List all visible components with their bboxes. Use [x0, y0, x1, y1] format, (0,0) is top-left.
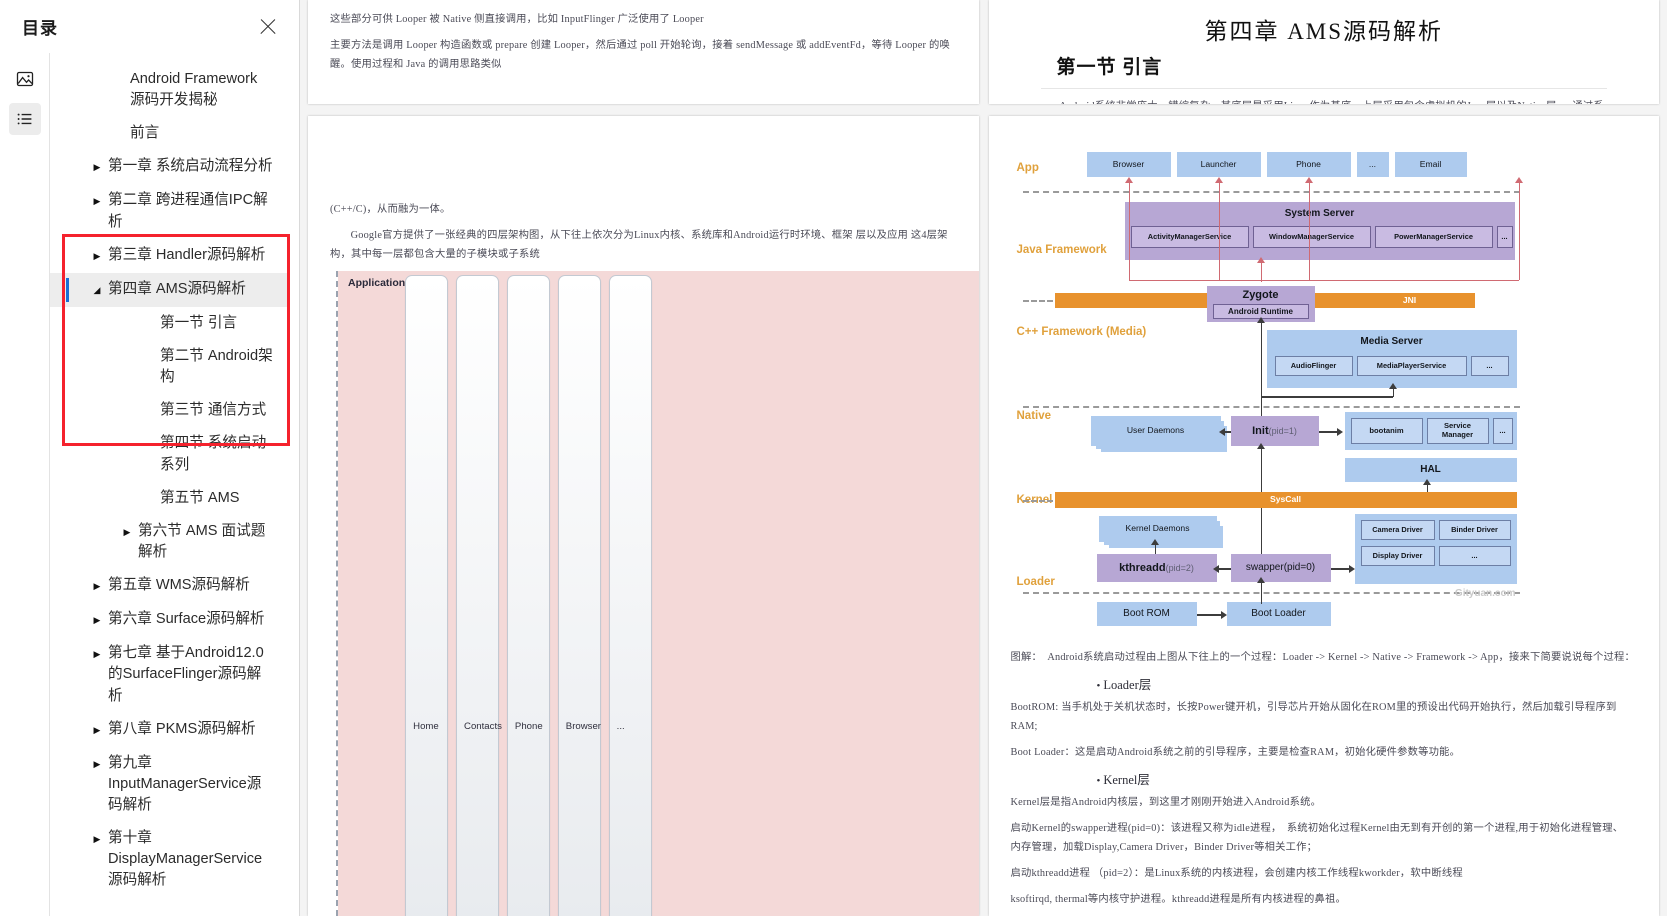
- toc-item[interactable]: 第五节 AMS: [50, 482, 289, 515]
- paragraph: ksoftirqd, thermal等内核守护进程。kthreadd进程是所有内…: [1011, 890, 1638, 909]
- toc-item[interactable]: ▶第七章 基于Android12.0的SurfaceFlinger源码解析: [50, 637, 289, 712]
- flow-app-box: Launcher: [1177, 152, 1261, 177]
- toc-item-label: 第六节 AMS 面试题解析: [138, 521, 275, 563]
- sidebar-body: Android Framework 源码开发揭秘前言▶第一章 系统启动流程分析▶…: [0, 53, 299, 916]
- sidebar-title: 目录: [22, 14, 58, 39]
- app-root: 目录: [0, 0, 1667, 916]
- thumbnails-icon[interactable]: [9, 63, 41, 95]
- caret-expanded-icon[interactable]: ◢: [86, 279, 108, 301]
- flow-arrow-right: [1319, 431, 1337, 433]
- toc-item-label: 第三章 Handler源码解析: [108, 245, 265, 266]
- flow-swapper-box: swapper(pid=0): [1231, 554, 1331, 582]
- bullet-item: Loader层: [1097, 674, 1638, 693]
- flow-user-daemons: User Daemons: [1091, 416, 1221, 446]
- flow-native-services: bootanim ServiceManager ...: [1345, 412, 1517, 450]
- toc-item[interactable]: ▶第二章 跨进程通信IPC解析: [50, 184, 289, 238]
- flow-boot-loader: Boot Loader: [1227, 602, 1331, 626]
- flow-kthreadd-box: kthreadd(pid=2): [1097, 554, 1217, 582]
- flow-service-box: ServiceManager: [1427, 418, 1489, 444]
- flow-driver-box: Binder Driver: [1439, 520, 1511, 540]
- sidebar-rail: [0, 53, 50, 916]
- paragraph: (C++/C)，从而融为一体。: [330, 200, 957, 219]
- flow-arrow-right: [1331, 568, 1349, 570]
- flow-row-label: Native: [1017, 410, 1052, 422]
- flow-kernel-drivers: Camera Driver Binder Driver Display Driv…: [1355, 514, 1517, 584]
- flow-arrow-up: [1155, 544, 1157, 554]
- flow-driver-box: ...: [1439, 546, 1511, 566]
- sidebar-header: 目录: [0, 0, 299, 53]
- toc-item-label: 第四节 系统启动系列: [160, 433, 275, 475]
- flow-red-connector: [1129, 280, 1519, 281]
- page-right-current: App Java Framework C++ Framework (Media)…: [989, 116, 1660, 916]
- toc-item-label: 第七章 基于Android12.0的SurfaceFlinger源码解析: [108, 643, 275, 706]
- page-right-body: 图解： Android系统启动过程由上图从下往上的一个过程：Loader -> …: [1011, 648, 1638, 909]
- paragraph: BootROM: 当手机处于关机状态时，长按Power键开机，引导芯片开始从固化…: [1011, 698, 1638, 736]
- toc-item-label: 第三节 通信方式: [160, 400, 266, 421]
- toc-item[interactable]: ▶第一章 系统启动流程分析: [50, 150, 289, 184]
- flow-service-box: ...: [1497, 226, 1513, 248]
- toc-item[interactable]: ▶第八章 PKMS源码解析: [50, 713, 289, 747]
- toc-item[interactable]: ▶第六章 Surface源码解析: [50, 603, 289, 637]
- arch-layer-application: Application Home Contacts Phone Browser …: [338, 271, 979, 916]
- caret-collapsed-icon[interactable]: ▶: [86, 245, 108, 267]
- flow-arrow-right: [1197, 614, 1221, 616]
- caret-collapsed-icon[interactable]: ▶: [86, 753, 108, 775]
- flow-service-box: ...: [1471, 356, 1509, 376]
- flow-kthreadd-label: kthreadd: [1119, 562, 1165, 575]
- toc-item[interactable]: Android Framework 源码开发揭秘: [50, 63, 289, 117]
- toc-item-label: 第八章 PKMS源码解析: [108, 719, 256, 740]
- flow-kthreadd-pid: (pid=2): [1166, 563, 1194, 573]
- flow-divider: [1023, 191, 1520, 193]
- arch-row: Home Contacts Phone Browser ...: [405, 275, 651, 916]
- toc-item-label: 第二节 Android架构: [160, 346, 275, 388]
- flow-row-label: Java Framework: [1017, 244, 1107, 256]
- toc-item-label: 第一节 引言: [160, 313, 237, 334]
- toc-item-label: 第九章 InputManagerService源码解析: [108, 753, 275, 816]
- toc-item[interactable]: 第三节 通信方式: [50, 394, 289, 427]
- flow-system-server: System Server ActivityManagerService Win…: [1125, 202, 1515, 260]
- flow-service-box: ...: [1493, 418, 1513, 444]
- toc-item[interactable]: 第四节 系统启动系列: [50, 427, 289, 481]
- toc-item[interactable]: 第一节 引言: [50, 307, 289, 340]
- flow-service-box: MediaPlayerService: [1357, 356, 1467, 376]
- toc-item[interactable]: 前言: [50, 117, 289, 150]
- caret-collapsed-icon[interactable]: ▶: [86, 609, 108, 631]
- flow-red-arrow: [1519, 182, 1520, 280]
- flow-red-arrow: [1219, 182, 1220, 280]
- flow-app-box: ...: [1357, 152, 1389, 177]
- caret-collapsed-icon[interactable]: ▶: [86, 719, 108, 741]
- flow-row-label: Loader: [1017, 576, 1055, 588]
- flow-divider: [1023, 300, 1053, 302]
- flow-arrow-left: [1225, 431, 1231, 433]
- toc-list: Android Framework 源码开发揭秘前言▶第一章 系统启动流程分析▶…: [50, 63, 299, 898]
- arch-layer-title: Application: [348, 275, 405, 916]
- flow-media-server: Media Server AudioFlinger MediaPlayerSer…: [1267, 330, 1517, 388]
- android-startup-flow-figure: App Java Framework C++ Framework (Media)…: [1015, 140, 1520, 600]
- paragraph: 这些部分可供 Looper 被 Native 侧直接调用，比如 InputFli…: [330, 10, 957, 29]
- page-column-right: 第四章 AMS源码解析 第一节 引言 Android系统非常庞大、错综复杂，其底…: [989, 0, 1660, 916]
- close-icon[interactable]: [257, 16, 279, 38]
- flow-zygote-title: Zygote: [1207, 287, 1315, 303]
- flow-connector: [1261, 396, 1393, 398]
- toc-item-label: 第一章 系统启动流程分析: [108, 156, 273, 177]
- paragraph: Android系统非常庞大、错综复杂，其底层是采用Linux作为基底，上层采用包…: [1011, 97, 1638, 104]
- flow-media-server-title: Media Server: [1267, 334, 1517, 350]
- toc-item-label: 第五节 AMS: [160, 488, 239, 509]
- page-left-current: (C++/C)，从而融为一体。 Google官方提供了一张经典的四层架构图，从下…: [308, 116, 979, 916]
- toc-item-label: 第十章 DisplayManagerService源码解析: [108, 828, 275, 891]
- toc-scroll-area[interactable]: Android Framework 源码开发揭秘前言▶第一章 系统启动流程分析▶…: [50, 53, 299, 916]
- toc-item[interactable]: ◢第四章 AMS源码解析: [50, 273, 289, 307]
- paragraph: 启动Kernel的swapper进程(pid=0)：该进程又称为idle进程， …: [1011, 819, 1638, 857]
- toc-item-label: 第四章 AMS源码解析: [108, 279, 246, 300]
- flow-red-arrow: [1261, 262, 1262, 282]
- android-architecture-figure: Application Home Contacts Phone Browser …: [336, 271, 846, 916]
- flow-jni-label: JNI: [1345, 293, 1475, 308]
- flow-service-box: WindowManagerService: [1253, 226, 1371, 248]
- arch-cell: ...: [609, 275, 652, 916]
- flow-service-box: bootanim: [1351, 418, 1423, 444]
- flow-driver-box: Camera Driver: [1361, 520, 1435, 540]
- flow-app-box: Browser: [1087, 152, 1171, 177]
- flow-red-arrow: [1309, 182, 1310, 280]
- arch-cell: Contacts: [456, 275, 499, 916]
- caret-collapsed-icon[interactable]: ▶: [86, 190, 108, 212]
- toc-item[interactable]: 第二节 Android架构: [50, 340, 289, 394]
- flow-service-box: PowerManagerService: [1375, 226, 1493, 248]
- flow-arrow-up: [1393, 388, 1395, 397]
- toc-item-label: 第五章 WMS源码解析: [108, 575, 250, 596]
- document-reader[interactable]: 这些部分可供 Looper 被 Native 侧直接调用，比如 InputFli…: [300, 0, 1667, 916]
- toc-item[interactable]: ▶第九章 InputManagerService源码解析: [50, 747, 289, 822]
- flow-init-label: Init: [1252, 425, 1269, 438]
- flow-system-server-title: System Server: [1125, 206, 1515, 222]
- caret-collapsed-icon[interactable]: ▶: [86, 156, 108, 178]
- toc-item[interactable]: ▶第三章 Handler源码解析: [50, 239, 289, 273]
- paragraph: 主要方法是调用 Looper 构造函数或 prepare 创建 Looper，然…: [330, 36, 957, 74]
- toc-item[interactable]: ▶第十章 DisplayManagerService源码解析: [50, 822, 289, 897]
- flow-driver-box: Display Driver: [1361, 546, 1435, 566]
- arch-cell: Home: [405, 275, 448, 916]
- toc-sidebar: 目录: [0, 0, 300, 916]
- caret-collapsed-icon[interactable]: ▶: [86, 643, 108, 665]
- flow-arrow-up: [1261, 448, 1263, 494]
- flow-red-arrow: [1129, 182, 1130, 280]
- paragraph: 启动kthreadd进程 （pid=2）：是Linux系统的内核进程，会创建内核…: [1011, 864, 1638, 883]
- divider: [1041, 88, 1608, 89]
- paragraph: Boot Loader：这是启动Android系统之前的引导程序，主要是检查RA…: [1011, 743, 1638, 762]
- caret-collapsed-icon[interactable]: ▶: [116, 521, 138, 543]
- flow-row-label: App: [1017, 162, 1039, 174]
- arch-cell: Phone: [507, 275, 550, 916]
- flow-app-box: Phone: [1267, 152, 1351, 177]
- section-title: 第一节 引言: [1057, 52, 1638, 79]
- flow-init-pid: (pid=1): [1269, 426, 1297, 436]
- toc-item-label: 第六章 Surface源码解析: [108, 609, 265, 630]
- flow-divider: [1023, 592, 1520, 594]
- outline-icon[interactable]: [9, 103, 41, 135]
- paragraph: Kernel层是指Android内核层，到这里才刚刚开始进入Android系统。: [1011, 793, 1638, 812]
- flow-row-label: C++ Framework (Media): [1017, 326, 1147, 338]
- flow-spine: [1261, 508, 1263, 554]
- arch-cell: Browser: [558, 275, 601, 916]
- toc-item-label: Android Framework 源码开发揭秘: [130, 69, 275, 111]
- flow-boot-rom: Boot ROM: [1097, 602, 1197, 626]
- caret-collapsed-icon[interactable]: ▶: [86, 575, 108, 597]
- bullet-item: Kernel层: [1097, 769, 1638, 788]
- page-column-left: 这些部分可供 Looper 被 Native 侧直接调用，比如 InputFli…: [308, 0, 979, 916]
- flow-service-box: ActivityManagerService: [1131, 226, 1249, 248]
- flow-service-box: AudioFlinger: [1275, 356, 1353, 376]
- toc-item[interactable]: ▶第五章 WMS源码解析: [50, 569, 289, 603]
- page-right-previous: 第四章 AMS源码解析 第一节 引言 Android系统非常庞大、错综复杂，其底…: [989, 0, 1660, 104]
- flow-arrow-up: [1261, 582, 1263, 604]
- toc-item-label: 第二章 跨进程通信IPC解析: [108, 190, 275, 232]
- toc-item[interactable]: ▶第六节 AMS 面试题解析: [50, 515, 289, 569]
- flow-divider: [1023, 406, 1520, 408]
- page-left-previous: 这些部分可供 Looper 被 Native 侧直接调用，比如 InputFli…: [308, 0, 979, 104]
- flow-syscall-band: SysCall: [1055, 492, 1517, 508]
- flow-arrow-left: [1219, 568, 1231, 570]
- flow-divider: [1023, 500, 1053, 502]
- flow-watermark: Gityuan.com: [1455, 588, 1516, 599]
- flow-app-box: Email: [1395, 152, 1467, 177]
- caret-collapsed-icon[interactable]: ▶: [86, 828, 108, 850]
- flow-init-box: Init(pid=1): [1231, 416, 1319, 446]
- paragraph: 图解： Android系统启动过程由上图从下往上的一个过程：Loader -> …: [1011, 648, 1638, 667]
- paragraph: Google官方提供了一张经典的四层架构图，从下往上依次分为Linux内核、系统…: [330, 226, 957, 264]
- toc-item-label: 前言: [130, 123, 159, 144]
- chapter-title: 第四章 AMS源码解析: [1011, 12, 1638, 46]
